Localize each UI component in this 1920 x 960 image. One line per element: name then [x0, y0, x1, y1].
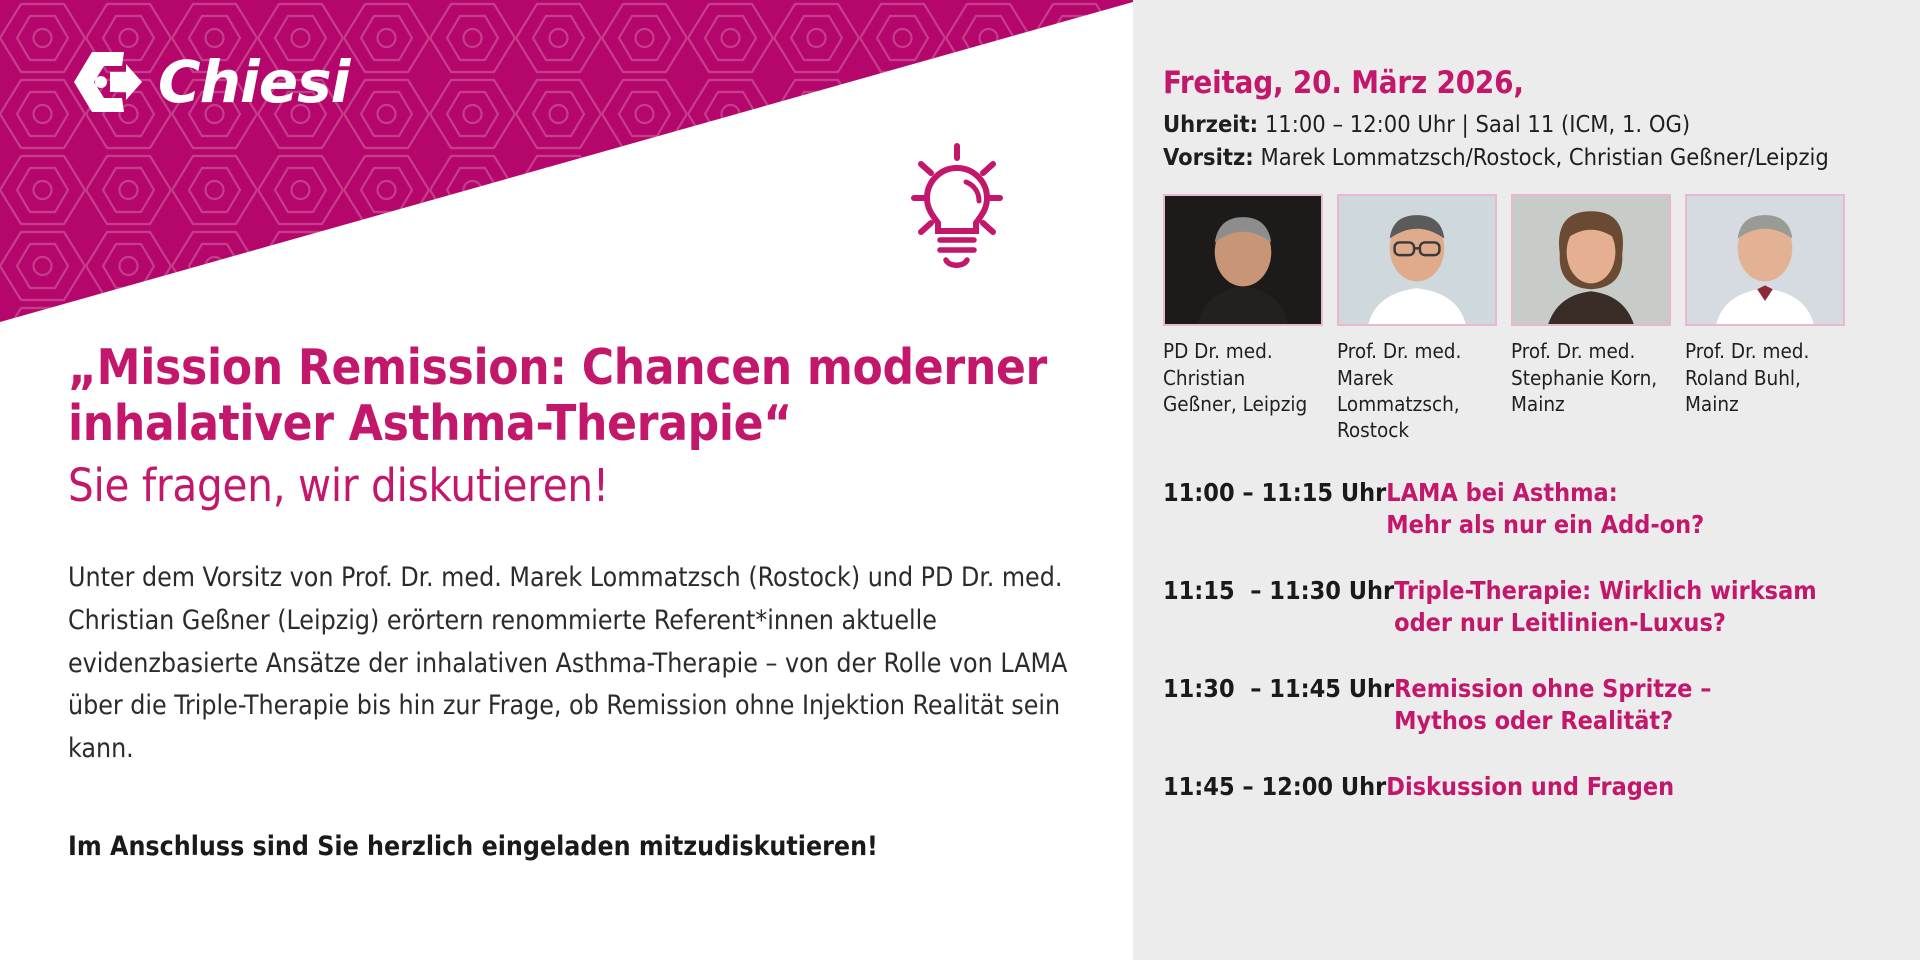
speaker-name: Prof. Dr. med. Stephanie Korn, Mainz — [1511, 338, 1671, 417]
agenda-time: 11:00 – 11:15 Uhr — [1163, 477, 1386, 509]
agenda-row: 11:15 – 11:30 Uhr Triple-Therapie: Wirkl… — [1163, 575, 1880, 639]
speaker-card: Prof. Dr. med. Marek Lommatzsch, Rostock — [1337, 194, 1497, 443]
right-panel: Freitag, 20. März 2026, Uhrzeit: 11:00 –… — [1133, 0, 1920, 960]
page-subtitle: Sie fragen, wir diskutieren! — [68, 459, 1068, 513]
agenda-row: 11:00 – 11:15 Uhr LAMA bei Asthma: Mehr … — [1163, 477, 1880, 541]
agenda-time: 11:15 – 11:30 Uhr — [1163, 575, 1394, 607]
speaker-card: Prof. Dr. med. Stephanie Korn, Mainz — [1511, 194, 1671, 443]
agenda-list: 11:00 – 11:15 Uhr LAMA bei Asthma: Mehr … — [1163, 477, 1880, 803]
speaker-list: PD Dr. med. Christian Geßner, Leipzig Pr… — [1163, 194, 1880, 443]
agenda-row: 11:30 – 11:45 Uhr Remission ohne Spritze… — [1163, 673, 1880, 737]
agenda-time: 11:30 – 11:45 Uhr — [1163, 673, 1394, 705]
event-time-row: Uhrzeit: 11:00 – 12:00 Uhr | Saal 11 (IC… — [1163, 108, 1880, 141]
chiesi-wordmark: Chiesi — [158, 53, 349, 111]
lightbulb-idea-icon — [896, 142, 1018, 279]
agenda-row: 11:45 – 12:00 Uhr Diskussion und Fragen — [1163, 771, 1880, 803]
event-time-value: 11:00 – 12:00 Uhr | Saal 11 (ICM, 1. OG) — [1265, 110, 1690, 138]
agenda-time: 11:45 – 12:00 Uhr — [1163, 771, 1386, 803]
event-meta: Uhrzeit: 11:00 – 12:00 Uhr | Saal 11 (IC… — [1163, 108, 1880, 175]
speaker-card: PD Dr. med. Christian Geßner, Leipzig — [1163, 194, 1323, 443]
page-title: „Mission Remission: Chancen moderner inh… — [68, 340, 1068, 453]
agenda-title: Diskussion und Fragen — [1386, 771, 1880, 803]
poster: Chiesi „Mission Remission: Chancen moder… — [0, 0, 1920, 960]
event-date: Freitag, 20. März 2026, — [1163, 64, 1880, 103]
event-chair-row: Vorsitz: Marek Lommatzsch/Rostock, Chris… — [1163, 141, 1880, 174]
event-time-label: Uhrzeit: — [1163, 110, 1258, 138]
agenda-title: LAMA bei Asthma: Mehr als nur ein Add-on… — [1386, 477, 1880, 541]
description-paragraph: Unter dem Vorsitz von Prof. Dr. med. Mar… — [68, 557, 1068, 772]
portrait-marek-lommatzsch — [1337, 194, 1497, 326]
speaker-name: Prof. Dr. med. Marek Lommatzsch, Rostock — [1337, 338, 1497, 443]
agenda-title: Remission ohne Spritze – Mythos oder Rea… — [1394, 673, 1880, 737]
left-content: „Mission Remission: Chancen moderner inh… — [68, 340, 1068, 867]
chiesi-hexagon-arrow-logo-icon — [72, 50, 144, 114]
event-chair-value: Marek Lommatzsch/Rostock, Christian Geßn… — [1260, 143, 1828, 171]
portrait-christian-gessner — [1163, 194, 1323, 326]
event-chair-label: Vorsitz: — [1163, 143, 1254, 171]
agenda-title: Triple-Therapie: Wirklich wirksam oder n… — [1394, 575, 1880, 639]
portrait-stephanie-korn — [1511, 194, 1671, 326]
closing-invitation: Im Anschluss sind Sie herzlich eingelade… — [68, 827, 1068, 867]
portrait-roland-buhl — [1685, 194, 1845, 326]
speaker-card: Prof. Dr. med. Roland Buhl, Mainz — [1685, 194, 1845, 443]
speaker-name: Prof. Dr. med. Roland Buhl, Mainz — [1685, 338, 1845, 417]
speaker-name: PD Dr. med. Christian Geßner, Leipzig — [1163, 338, 1323, 417]
chiesi-logo: Chiesi — [72, 50, 349, 114]
left-panel: Chiesi „Mission Remission: Chancen moder… — [0, 0, 1133, 960]
